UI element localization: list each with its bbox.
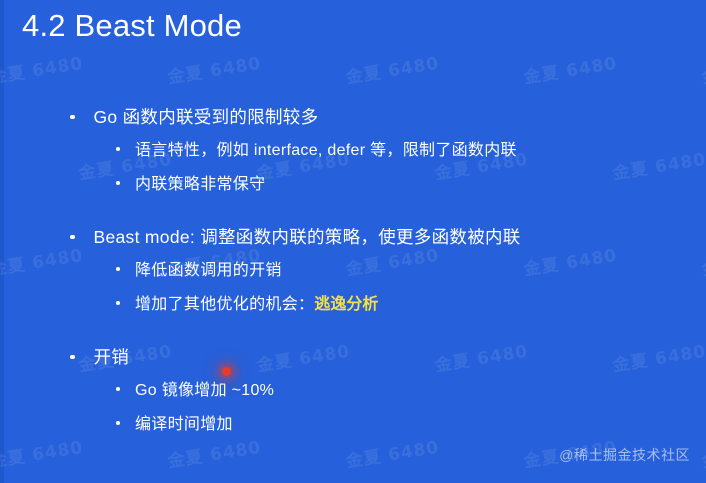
- presentation-slide: 金夏 6480金夏 6480金夏 6480金夏 6480金夏 6480金夏 64…: [0, 0, 706, 483]
- bullet-level2-label: 语言特性，例如 interface, defer 等，限制了函数内联: [135, 134, 517, 168]
- bullet-level1: Beast mode: 调整函数内联的策略，使更多函数被内联: [0, 220, 706, 254]
- bullet-level2: 内联策略非常保守: [0, 168, 706, 202]
- bullet-level2-label: 降低函数调用的开销: [135, 254, 282, 288]
- bullet-dot-icon: [70, 355, 75, 360]
- bullet-level2: 语言特性，例如 interface, defer 等，限制了函数内联: [0, 134, 706, 168]
- bullet-level1-label: 开销: [94, 340, 130, 374]
- group-spacer: [0, 202, 706, 220]
- bullet-level2-label: 增加了其他优化的机会：: [135, 288, 314, 322]
- highlighted-term: 逃逸分析: [314, 288, 378, 322]
- bullet-level2-label: 内联策略非常保守: [135, 168, 265, 202]
- page-title: 4.2 Beast Mode: [22, 6, 242, 46]
- slide-content: 4.2 Beast Mode Go 函数内联受到的限制较多 语言特性，例如 in…: [0, 0, 706, 483]
- bullet-list: Go 函数内联受到的限制较多 语言特性，例如 interface, defer …: [0, 100, 706, 442]
- bullet-level1-label: Go 函数内联受到的限制较多: [94, 100, 319, 134]
- bullet-level2: 降低函数调用的开销: [0, 254, 706, 288]
- bullet-level2: 编译时间增加: [0, 408, 706, 442]
- bullet-dot-icon: [116, 301, 120, 305]
- bullet-level1: Go 函数内联受到的限制较多: [0, 100, 706, 134]
- bullet-level2-label: 编译时间增加: [135, 408, 233, 442]
- bullet-level2-label: Go 镜像增加 ~10%: [135, 374, 274, 408]
- bullet-level2: 增加了其他优化的机会： 逃逸分析: [0, 288, 706, 322]
- bullet-level1: 开销: [0, 340, 706, 374]
- bullet-dot-icon: [116, 181, 120, 185]
- bullet-dot-icon: [116, 387, 120, 391]
- bullet-level1-label: Beast mode: 调整函数内联的策略，使更多函数被内联: [94, 220, 521, 254]
- group-spacer: [0, 322, 706, 340]
- bullet-dot-icon: [70, 235, 75, 240]
- bullet-dot-icon: [116, 147, 120, 151]
- bullet-level2: Go 镜像增加 ~10%: [0, 374, 706, 408]
- bullet-dot-icon: [70, 115, 75, 120]
- brand-watermark: @稀土掘金技术社区: [559, 445, 690, 465]
- bullet-dot-icon: [116, 421, 120, 425]
- laser-pointer-icon: [222, 367, 231, 376]
- bullet-dot-icon: [116, 267, 120, 271]
